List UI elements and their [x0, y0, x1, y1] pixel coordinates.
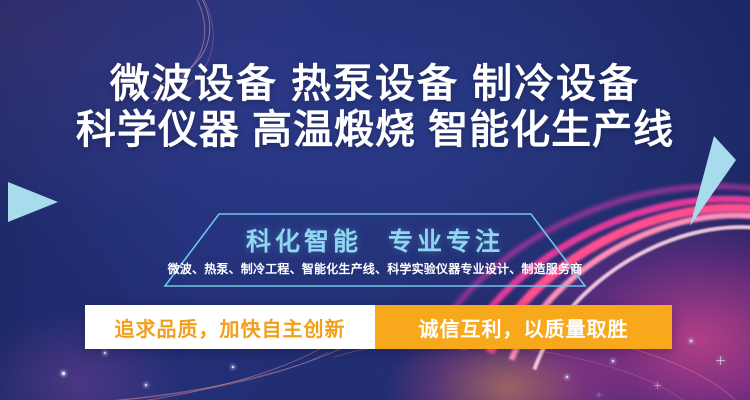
bottom-bar-left: 追求品质，加快自主创新	[85, 305, 375, 349]
sparkle-dot	[232, 366, 234, 368]
triangle-arrow-left-icon	[8, 182, 58, 222]
slogan-left: 科化智能	[246, 228, 362, 256]
sparkle-dot	[104, 352, 106, 354]
sparkle-dot	[145, 384, 147, 386]
sparkle-star	[654, 382, 661, 389]
slogan-trapezoid: 科化智能专业专注 微波、热泵、制冷工程、智能化生产线、科学实验仪器专业设计、制造…	[163, 212, 587, 288]
slogan-subtitle: 微波、热泵、制冷工程、智能化生产线、科学实验仪器专业设计、制造服务商	[157, 260, 593, 277]
sparkle-star	[716, 356, 725, 365]
bottom-bar-right: 诚信互利，以质量取胜	[375, 305, 672, 349]
bottom-slogan-bar: 追求品质，加快自主创新 诚信互利，以质量取胜	[85, 305, 672, 349]
slogan-line: 科化智能专业专注	[163, 222, 587, 258]
sparkle-star	[596, 392, 602, 398]
headline-line-1: 微波设备 热泵设备 制冷设备	[0, 62, 750, 108]
sparkle-dot	[62, 372, 65, 375]
headline: 微波设备 热泵设备 制冷设备 科学仪器 高温煅烧 智能化生产线	[0, 62, 750, 153]
sparkle-dot	[612, 360, 614, 362]
promo-banner: 微波设备 热泵设备 制冷设备 科学仪器 高温煅烧 智能化生产线 科化智能专业专注…	[0, 0, 750, 400]
slogan-right: 专业专注	[388, 228, 504, 256]
sparkle-dot	[690, 340, 692, 342]
headline-line-2: 科学仪器 高温煅烧 智能化生产线	[0, 108, 750, 154]
